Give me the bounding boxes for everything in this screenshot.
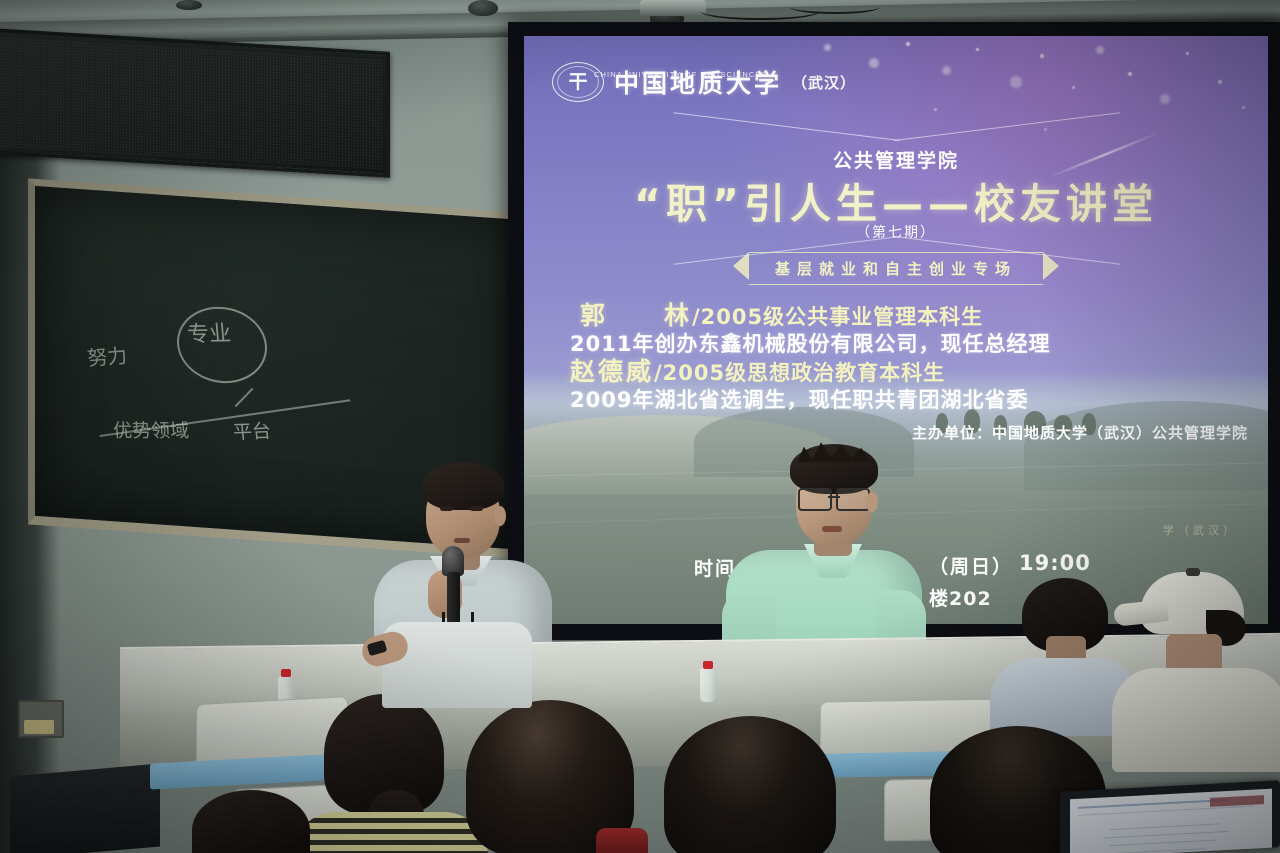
audience-hair [664, 716, 836, 853]
chevron-top-right [894, 112, 1120, 141]
speaker-left-hair [422, 462, 504, 510]
slide-ribbon-banner: 基层就业和自主创业专场 [749, 252, 1043, 285]
speaker-left-mouth [454, 538, 470, 543]
audience-standing-white-shirt [362, 612, 552, 704]
slide-venue: 楼202 [929, 584, 992, 611]
speaker-right-ear [866, 492, 878, 512]
audience-blue-shirt [1000, 578, 1130, 728]
university-logo-block: 干 中国地质大学 （武汉） [552, 62, 856, 102]
ceiling-cable [790, 0, 880, 14]
slide-faded-text: 学（武汉） [1163, 522, 1238, 538]
chevron-top-left [674, 112, 900, 141]
laptop-screen[interactable] [1070, 789, 1272, 853]
laptop-screen-text-line [1110, 840, 1216, 847]
laptop-screen-text-line [1110, 823, 1220, 830]
laptop-screen-highlight [1210, 795, 1264, 807]
speaker-2-major: /2005级思想政治教育本科生 [654, 361, 945, 385]
speaker-left-eye [470, 506, 483, 511]
wall-led-display [0, 28, 390, 178]
ceiling-light-icon [176, 0, 202, 10]
slide-time-clock: 19:00 [1019, 551, 1091, 575]
seal-char: 干 [568, 73, 587, 92]
slide-department: 公共管理学院 [524, 146, 1268, 173]
speaker-1-name: 郭 林 [580, 301, 692, 330]
speaker-left-eye [440, 506, 453, 511]
red-bag [596, 828, 648, 853]
slide-organizer: 主办单位：中国地质大学（武汉）公共管理学院 [912, 422, 1248, 443]
speaker-2-heading: 赵德威/2005级思想政治教育本科生 [570, 352, 945, 388]
audience-head-left-edge [192, 790, 312, 853]
speaker-1-major: /2005级公共事业管理本科生 [692, 305, 983, 329]
ceiling-speaker-icon [468, 0, 498, 16]
laptop[interactable] [1060, 780, 1280, 853]
university-seal-icon: 干 [552, 62, 604, 102]
audience-white-cap [1120, 572, 1280, 772]
laptop-screen-text-line [1104, 831, 1228, 838]
audience-dark-hair-right [660, 716, 840, 853]
audience-hair [192, 790, 310, 853]
lecture-hall-photo: 专业 努力 优势领域 平台 [0, 0, 1280, 853]
projector-mount-bracket [640, 0, 706, 16]
eyeglasses-icon [798, 488, 870, 508]
university-city: （武汉） [792, 72, 856, 93]
slide-time-day: （周日） [929, 552, 1013, 579]
speaker-2-name: 赵德威 [570, 357, 654, 386]
speaker-left-ear [494, 506, 506, 526]
audience-ponytail-striped [306, 694, 476, 853]
speaker-2-bio: 2009年湖北省选调生，现任职共青团湖北省委 [570, 384, 1028, 414]
wall-power-socket [18, 700, 64, 738]
audience-torso [382, 622, 532, 708]
cap-button-icon [1186, 568, 1200, 576]
side-desk [10, 763, 160, 853]
slide-issue: （第七期） [524, 222, 1268, 242]
speaker-1-heading: 郭 林/2005级公共事业管理本科生 [580, 296, 983, 332]
water-bottle [700, 668, 716, 702]
audience-torso [1112, 668, 1280, 772]
slide-title: “职”引人生——校友讲堂 [524, 170, 1268, 230]
speaker-right-mouth [822, 526, 842, 532]
university-name-en: CHINA UNIVERSITY OF GEOSCIENCES [594, 70, 768, 79]
audience-torso-striped [292, 812, 488, 853]
